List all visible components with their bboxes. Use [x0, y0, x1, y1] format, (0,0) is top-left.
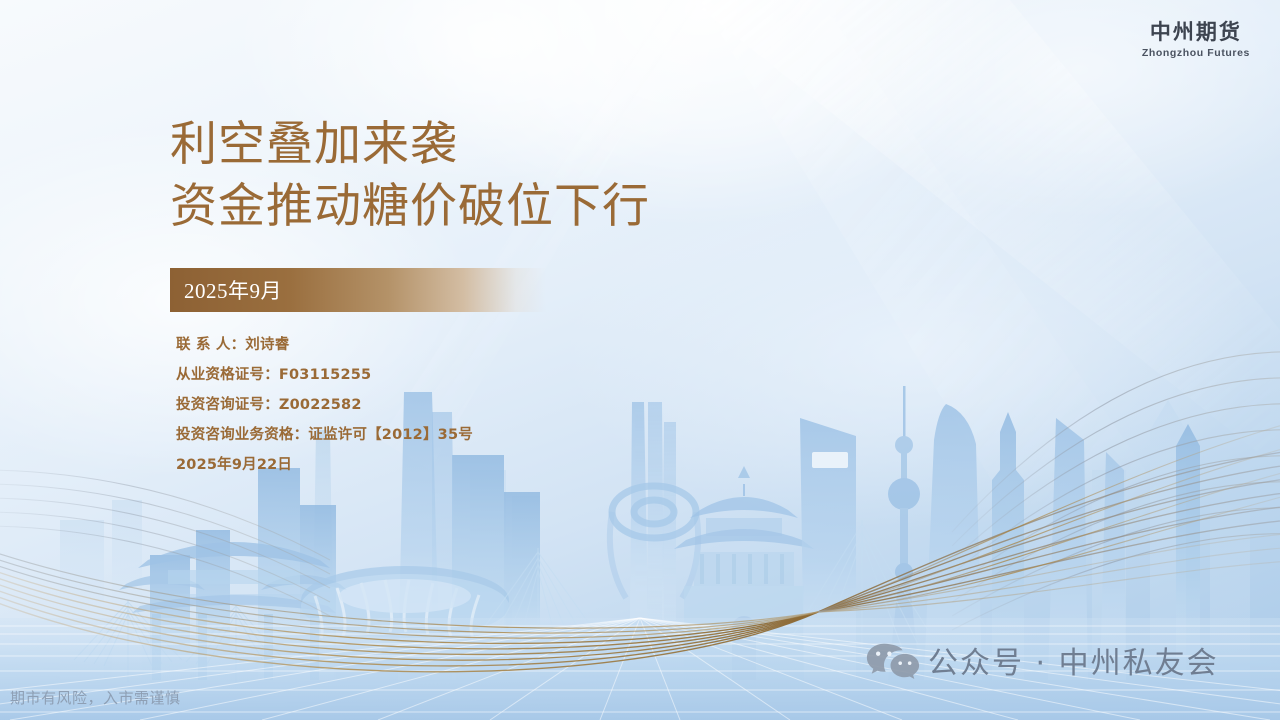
page-title: 利空叠加来袭 资金推动糖价破位下行 — [170, 114, 650, 238]
wechat-account-label: 公众号 · 中州私友会 — [928, 638, 1219, 682]
date-badge: 2025年9月 — [170, 268, 546, 312]
contact-person-row: 联 系 人：刘诗睿 — [176, 330, 473, 360]
advisory-qualification-row: 投资咨询业务资格：证监许可【2012】35号 — [176, 420, 473, 450]
report-date-row: 2025年9月22日 — [176, 450, 473, 480]
title-line-2: 资金推动糖价破位下行 — [170, 176, 650, 238]
date-badge-label: 2025年9月 — [170, 275, 282, 305]
wechat-account-footer: 公众号 · 中州私友会 — [866, 638, 1219, 682]
contact-info-block: 联 系 人：刘诗睿 从业资格证号：F03115255 投资咨询证号：Z00225… — [176, 330, 473, 480]
logo-chinese-name: 中州期货 — [1142, 22, 1250, 43]
title-line-1: 利空叠加来袭 — [170, 114, 650, 176]
risk-disclaimer: 期市有风险，入市需谨慎 — [10, 687, 181, 708]
wechat-icon — [866, 640, 920, 680]
cloud-haze-decoration — [560, 170, 1260, 530]
advisory-license-row: 投资咨询证号：Z0022582 — [176, 390, 473, 420]
practice-license-row: 从业资格证号：F03115255 — [176, 360, 473, 390]
logo-english-name: Zhongzhou Futures — [1142, 48, 1250, 59]
presentation-slide: 中州期货 Zhongzhou Futures 利空叠加来袭 资金推动糖价破位下行… — [0, 0, 1280, 720]
brand-logo: 中州期货 Zhongzhou Futures — [1142, 22, 1250, 59]
